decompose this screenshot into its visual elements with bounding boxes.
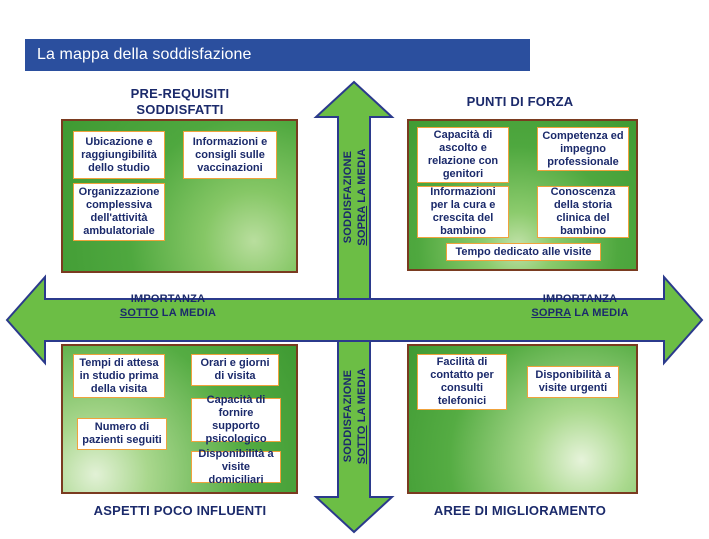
axis-label-rest: LA MEDIA	[356, 148, 368, 206]
satisfaction-map-diagram: La mappa della soddisfazione PRE-REQUISI…	[0, 0, 709, 539]
quadrant-heading-top-right: PUNTI DI FORZA	[400, 94, 640, 110]
axis-label-rest: LA MEDIA	[356, 368, 368, 426]
list-item[interactable]: Disponibilità a visite domiciliari	[191, 451, 281, 483]
axis-label-line1: SODDISFAZIONE	[341, 117, 355, 277]
list-item[interactable]: Numero di pazienti seguiti	[77, 418, 167, 450]
axis-label-underlined: SOPRA	[531, 307, 571, 319]
axis-label-rest: LA MEDIA	[159, 307, 217, 319]
axis-label-line1: SODDISFAZIONE	[341, 336, 355, 496]
list-item[interactable]: Informazioni e consigli sulle vaccinazio…	[183, 131, 277, 179]
axis-label-line2: SOTTO LA MEDIA	[355, 336, 369, 496]
axis-label-satisfaction-above: SODDISFAZIONE SOPRA LA MEDIA	[341, 117, 369, 277]
quadrant-heading-bottom-right: AREE DI MIGLIORAMENTO	[400, 503, 640, 519]
axis-label-line2: SOTTO LA MEDIA	[88, 306, 248, 320]
quadrant-heading-top-left: PRE-REQUISITI SODDISFATTI	[60, 86, 300, 118]
quadrant-top-right: Capacità di ascolto e relazione con geni…	[407, 119, 638, 271]
arrow-center-joint	[339, 300, 369, 340]
axis-label-line2: SOPRA LA MEDIA	[500, 306, 660, 320]
axis-label-rest: LA MEDIA	[571, 307, 629, 319]
axis-label-line1: IMPORTANZA	[500, 292, 660, 306]
quadrant-heading-bottom-left: ASPETTI POCO INFLUENTI	[60, 503, 300, 519]
axis-label-importance-below: IMPORTANZA SOTTO LA MEDIA	[88, 292, 248, 320]
axis-label-line1: IMPORTANZA	[88, 292, 248, 306]
list-item[interactable]: Ubicazione e raggiungibilità dello studi…	[73, 131, 165, 179]
quadrant-top-left: Ubicazione e raggiungibilità dello studi…	[61, 119, 298, 273]
quadrant-bottom-right: Facilità di contatto per consulti telefo…	[407, 344, 638, 494]
axis-label-underlined: SOTTO	[356, 425, 368, 464]
list-item[interactable]: Capacità di fornire supporto psicologico	[191, 398, 281, 442]
quadrant-bottom-left: Tempi di attesa in studio prima della vi…	[61, 344, 298, 494]
axis-label-satisfaction-below: SODDISFAZIONE SOTTO LA MEDIA	[341, 336, 369, 496]
axis-label-underlined: SOTTO	[120, 307, 159, 319]
list-item[interactable]: Competenza ed impegno professionale	[537, 127, 629, 171]
list-item[interactable]: Tempi di attesa in studio prima della vi…	[73, 354, 165, 398]
axis-label-underlined: SOPRA	[356, 206, 368, 246]
list-item[interactable]: Informazioni per la cura e crescita del …	[417, 186, 509, 238]
axis-label-importance-above: IMPORTANZA SOPRA LA MEDIA	[500, 292, 660, 320]
list-item[interactable]: Tempo dedicato alle visite	[446, 243, 601, 261]
list-item[interactable]: Orari e giorni di visita	[191, 354, 279, 386]
axis-label-line2: SOPRA LA MEDIA	[355, 117, 369, 277]
list-item[interactable]: Conoscenza della storia clinica del bamb…	[537, 186, 629, 238]
list-item[interactable]: Capacità di ascolto e relazione con geni…	[417, 127, 509, 183]
list-item[interactable]: Disponibilità a visite urgenti	[527, 366, 619, 398]
list-item[interactable]: Organizzazione complessiva dell'attività…	[73, 183, 165, 241]
list-item[interactable]: Facilità di contatto per consulti telefo…	[417, 354, 507, 410]
